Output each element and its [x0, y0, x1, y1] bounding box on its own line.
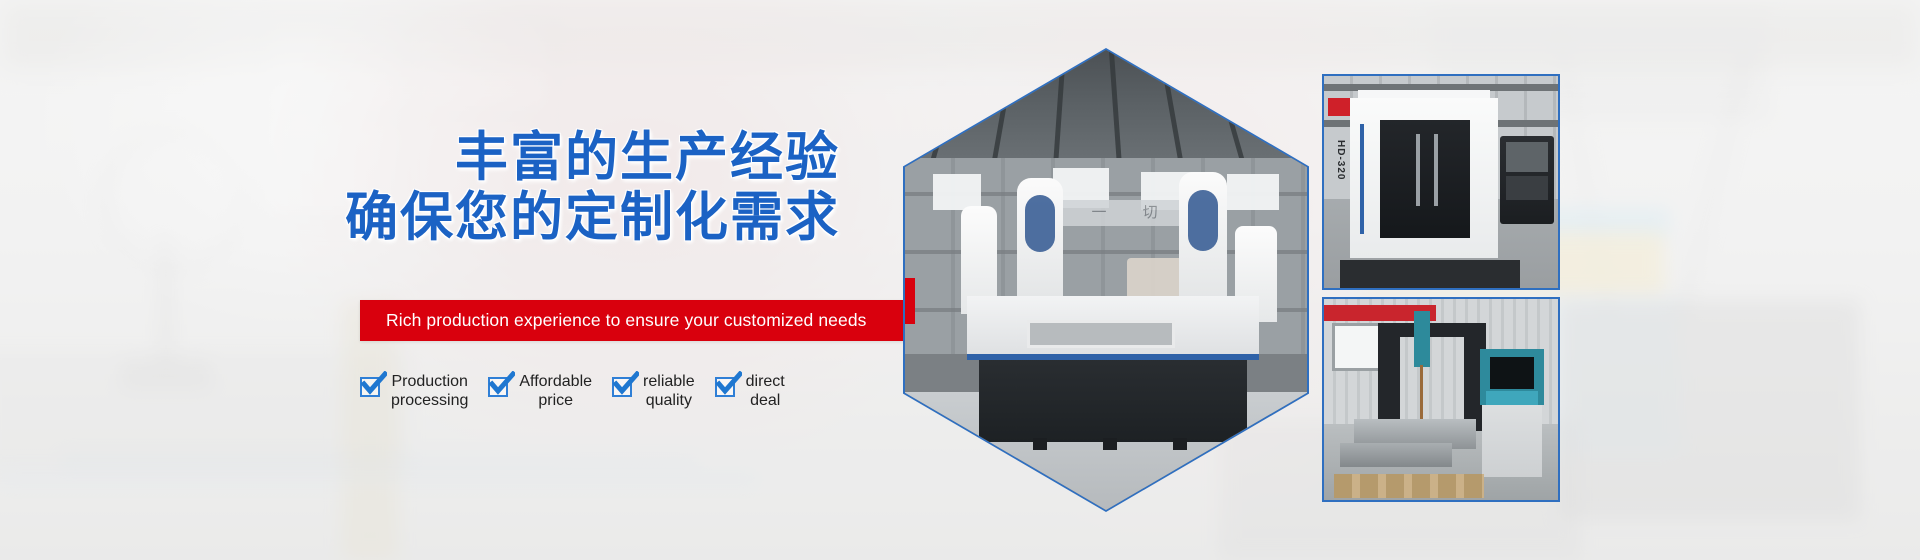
feature-label-line-2: processing	[391, 391, 468, 410]
machine-model-label: HD-320	[1335, 140, 1346, 180]
checkbox-checked-icon	[612, 377, 634, 399]
hexagon-photo-clip: 定 一 切	[905, 50, 1307, 510]
headline-line-2: 确保您的定制化需求	[0, 188, 840, 248]
checkbox-checked-icon	[715, 377, 737, 399]
page-title: 丰富的生产经验 确保您的定制化需求	[0, 128, 840, 248]
copy-block: 丰富的生产经验 确保您的定制化需求 Rich production experi…	[0, 0, 960, 560]
side-photo-edm-machine	[1322, 297, 1560, 502]
checkbox-checked-icon	[360, 377, 382, 399]
feature-label-line-1: direct	[746, 372, 785, 391]
hero-photo-scene: 定 一 切	[905, 50, 1307, 510]
feature-label-line-1: Production	[391, 372, 468, 391]
feature-list: Production processing Affordable price	[360, 372, 920, 428]
subtitle-text: Rich production experience to ensure you…	[360, 310, 867, 331]
side-photo-machining-center: HD-320	[1322, 74, 1560, 290]
checkbox-checked-icon	[488, 377, 510, 399]
feature-item-affordable-price: Affordable price	[488, 372, 592, 410]
scene-red-edge	[905, 278, 915, 324]
feature-label: direct deal	[746, 372, 785, 410]
scene-window-4	[1227, 174, 1279, 210]
scene-window-1	[933, 174, 981, 210]
scene-column-right	[1179, 172, 1227, 304]
hero-photo-hexagon: 定 一 切	[903, 48, 1309, 512]
feature-label-line-2: deal	[746, 391, 785, 410]
feature-label-line-1: reliable	[643, 372, 695, 391]
feature-item-reliable-quality: reliable quality	[612, 372, 695, 410]
scene-machine-base	[979, 350, 1247, 442]
feature-item-direct-deal: direct deal	[715, 372, 785, 410]
headline-line-1: 丰富的生产经验	[0, 128, 840, 188]
feature-label-line-1: Affordable	[519, 372, 592, 391]
promo-banner: 丰富的生产经验 确保您的定制化需求 Rich production experi…	[0, 0, 1920, 560]
side-photo-stack: HD-320	[1322, 74, 1560, 502]
scene-column-left	[1017, 178, 1063, 302]
feature-label: Affordable price	[519, 372, 592, 410]
feature-item-production-processing: Production processing	[360, 372, 468, 410]
scene-roof	[905, 50, 1307, 168]
feature-label-line-2: price	[519, 391, 592, 410]
feature-label-line-2: quality	[643, 391, 695, 410]
scene-machine-window	[1027, 320, 1175, 348]
feature-label: Production processing	[391, 372, 468, 410]
feature-label: reliable quality	[643, 372, 695, 410]
subtitle-bar: Rich production experience to ensure you…	[360, 300, 905, 341]
